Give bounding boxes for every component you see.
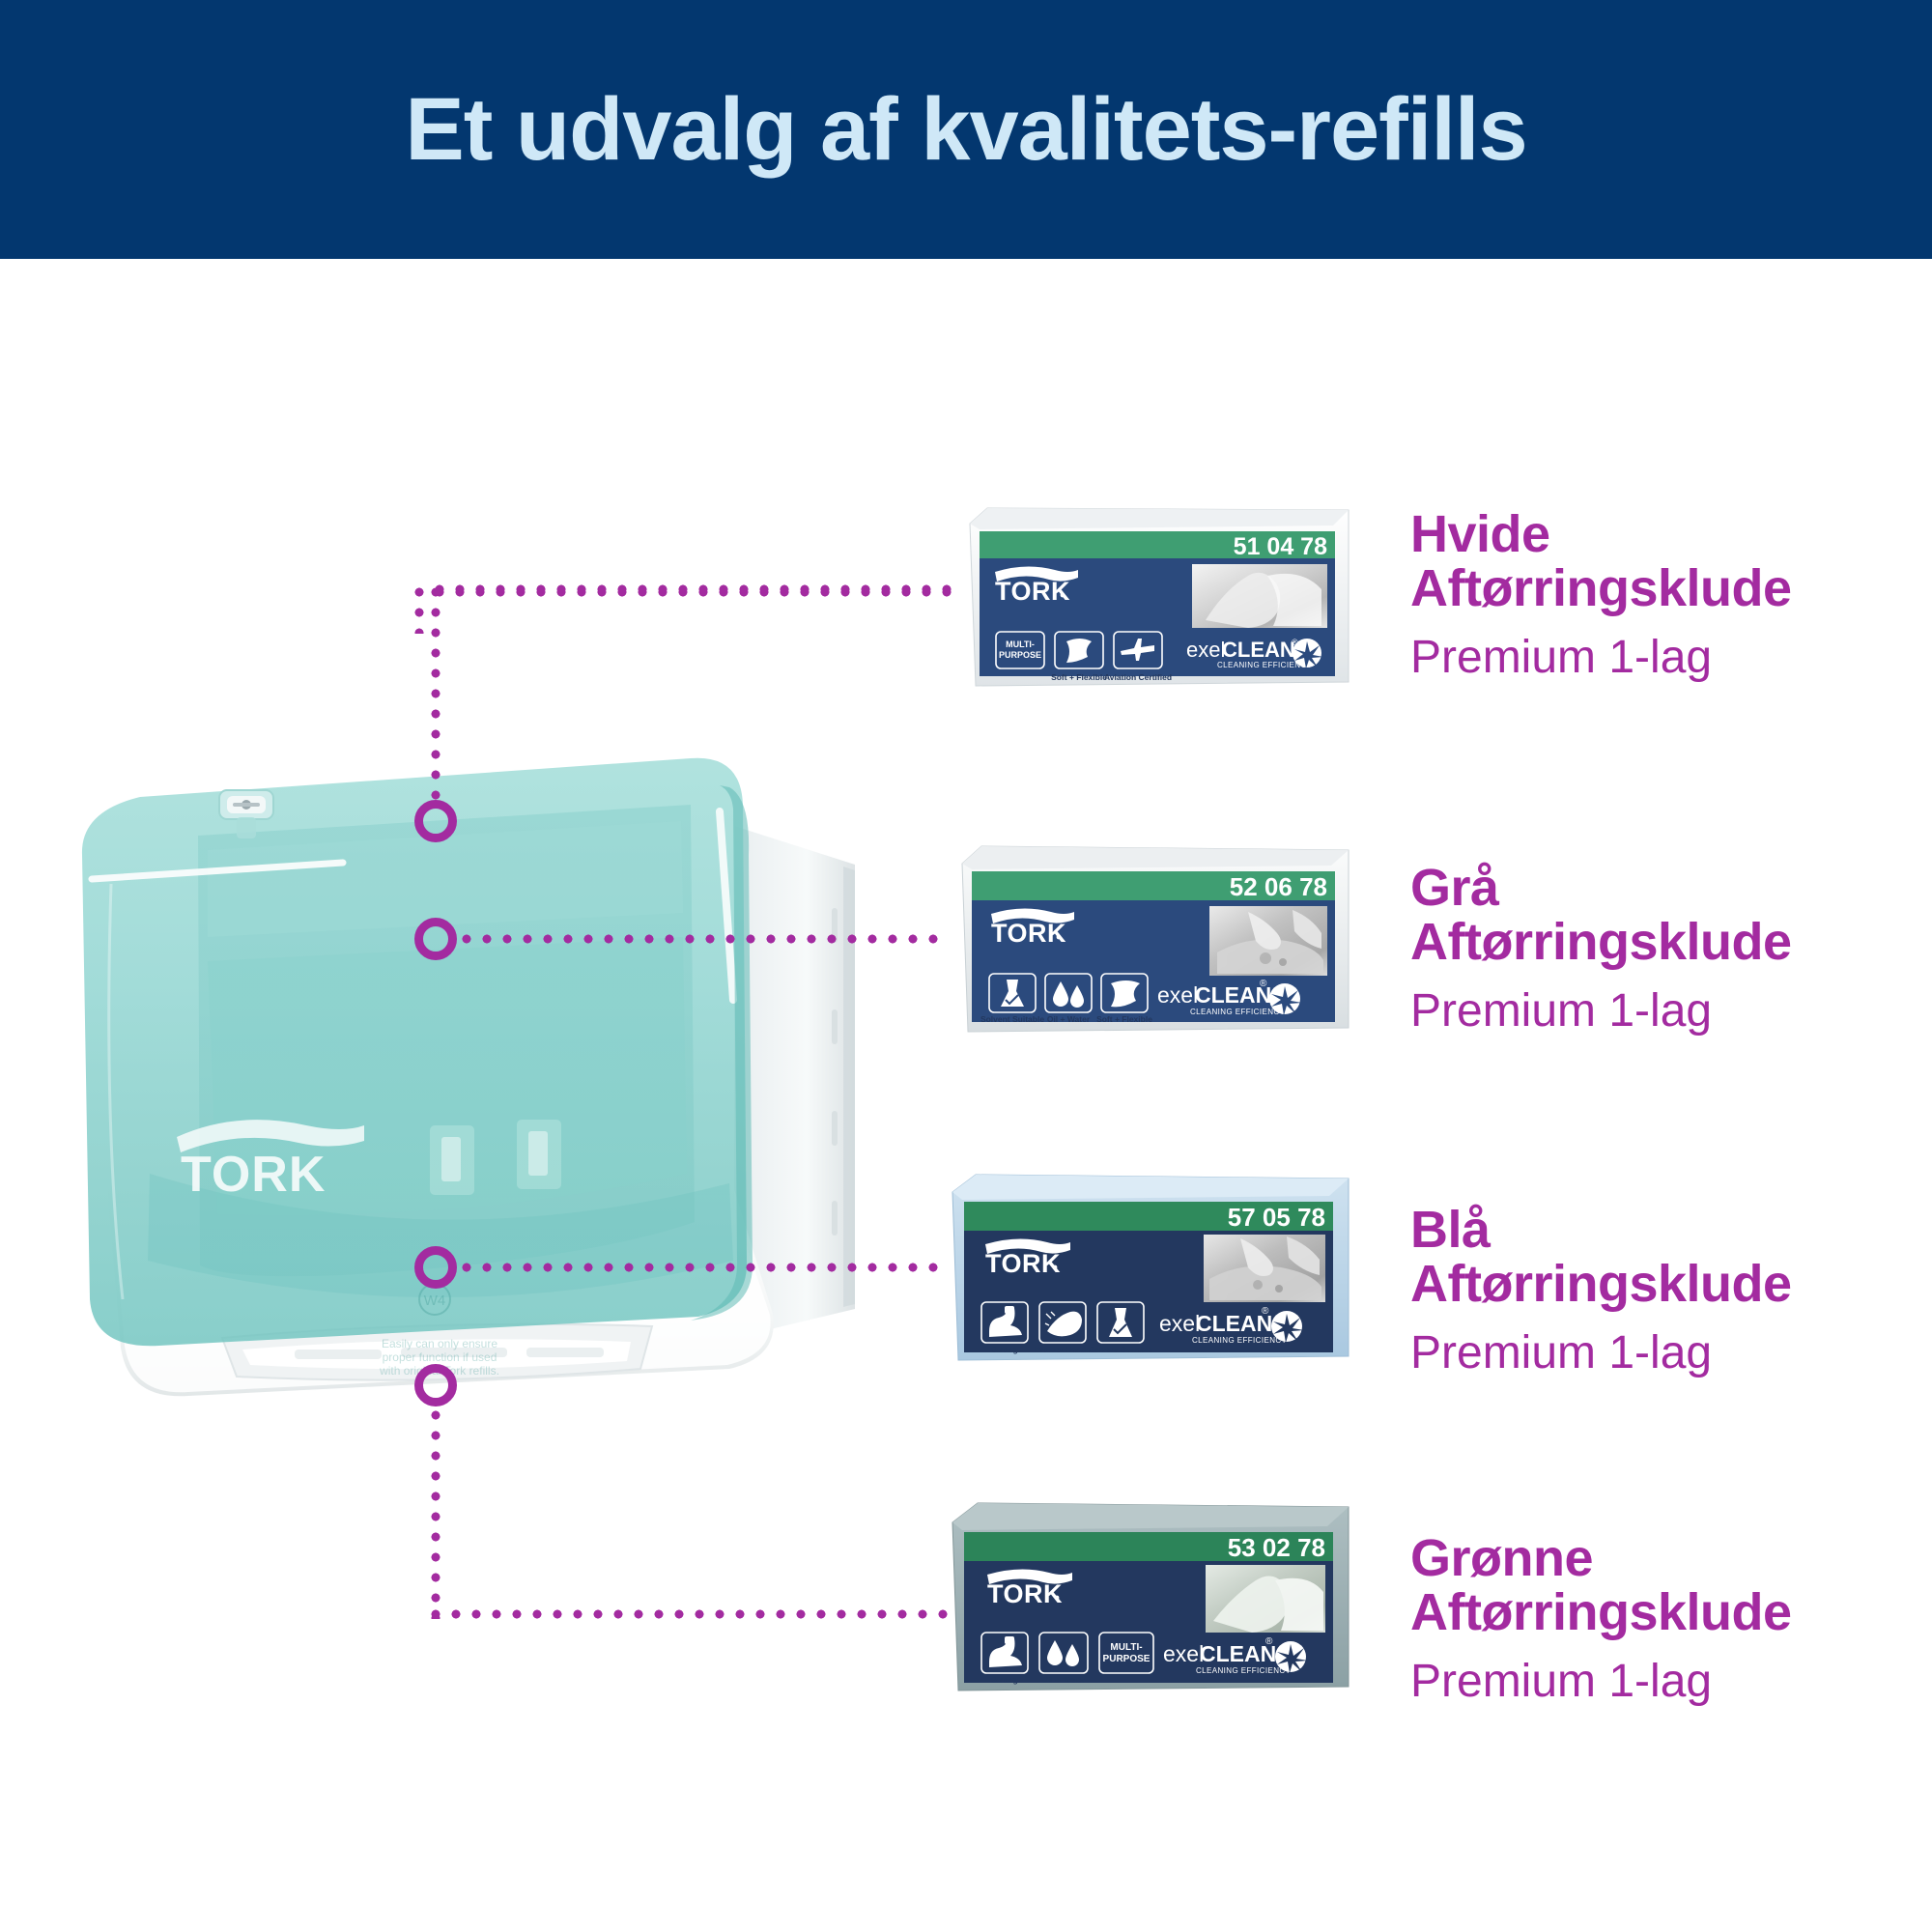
connector-line-4-vertical — [431, 1410, 440, 1619]
svg-text:Oil + Water: Oil + Water — [1047, 1014, 1091, 1024]
dispenser-illustration: TORK W4 Easily can only ensure proper fu… — [53, 720, 923, 1435]
product-subtitle: Premium 1-lag — [1410, 1328, 1792, 1379]
svg-text:exel: exel — [1186, 638, 1225, 662]
svg-text:Soft + Flexible: Soft + Flexible — [1051, 672, 1107, 682]
tork-logo: TORK — [991, 908, 1074, 948]
dispenser-image: TORK W4 Easily can only ensure proper fu… — [53, 720, 923, 1435]
tork-logo: TORK — [985, 1238, 1070, 1278]
product-title: Hvide Aftørringsklude — [1410, 508, 1792, 615]
header-banner: Et udvalg af kvalitets-refills — [0, 0, 1932, 259]
product-label-blaa: Blå Aftørringsklude Premium 1-lag — [1410, 1204, 1792, 1379]
product-subtitle: Premium 1-lag — [1410, 633, 1792, 684]
svg-text:exel: exel — [1157, 982, 1198, 1008]
svg-text:MULTI-: MULTI- — [1110, 1642, 1142, 1653]
svg-text:PURPOSE: PURPOSE — [999, 650, 1041, 660]
product-package-blaa[interactable]: 57 05 78 TORK Strong — [947, 1167, 1352, 1370]
svg-text:Strong: Strong — [991, 1675, 1017, 1685]
svg-text:TORK: TORK — [995, 577, 1070, 606]
connector-line-1-horizontal-main — [435, 584, 956, 594]
product-title: Grønne Aftørringsklude — [1410, 1532, 1792, 1639]
svg-text:CLEAN: CLEAN — [1222, 638, 1295, 662]
svg-text:CLEANING EFFICIENCY: CLEANING EFFICIENCY — [1192, 1336, 1288, 1345]
svg-text:CLEANING EFFICIENCY: CLEANING EFFICIENCY — [1190, 1008, 1286, 1016]
marker-ring-2 — [414, 918, 457, 960]
svg-text:TORK: TORK — [987, 1579, 1063, 1608]
svg-text:®: ® — [1265, 1636, 1273, 1647]
poster-canvas: Et udvalg af kvalitets-refills — [0, 0, 1932, 1932]
product-title: Blå Aftørringsklude — [1410, 1204, 1792, 1311]
connector-line-3-horizontal — [462, 1263, 943, 1272]
svg-text:CLEANING EFFICIENCY: CLEANING EFFICIENCY — [1196, 1666, 1292, 1675]
svg-text:®: ® — [1260, 979, 1267, 989]
marker-ring-3 — [414, 1246, 457, 1289]
svg-text:TORK: TORK — [991, 919, 1066, 948]
product-package-hvide[interactable]: 51 04 78 TORK MULTI- PURPOSE Soft + Flex… — [966, 500, 1352, 694]
svg-text:TORK: TORK — [985, 1249, 1061, 1278]
svg-text:Protect Hands: Protect Hands — [1035, 1345, 1091, 1354]
article-number: 52 06 78 — [1230, 872, 1327, 901]
tork-logo: TORK — [995, 566, 1078, 606]
product-subtitle: Premium 1-lag — [1410, 1657, 1792, 1708]
product-label-hvide: Hvide Aftørringsklude Premium 1-lag — [1410, 508, 1792, 684]
tork-logo: TORK — [987, 1569, 1072, 1608]
connector-line-1-vertical-lower — [431, 587, 440, 808]
svg-text:Easily can only ensure: Easily can only ensure — [382, 1337, 497, 1350]
connector-line-1-vertical — [414, 587, 424, 634]
svg-text:exel: exel — [1159, 1311, 1200, 1336]
svg-text:W4: W4 — [424, 1293, 446, 1309]
product-subtitle: Premium 1-lag — [1410, 986, 1792, 1037]
svg-text:exel: exel — [1163, 1641, 1204, 1666]
svg-text:Aviation Certified: Aviation Certified — [1104, 672, 1172, 682]
svg-text:Solvent Suitable: Solvent Suitable — [980, 1014, 1044, 1024]
product-package-gronne[interactable]: 53 02 78 TORK Strong Oil + Water — [947, 1495, 1352, 1698]
product-label-gronne: Grønne Aftørringsklude Premium 1-lag — [1410, 1532, 1792, 1708]
svg-text:proper function if used: proper function if used — [383, 1350, 497, 1364]
svg-text:TORK: TORK — [181, 1147, 326, 1203]
connector-line-4-horizontal — [431, 1609, 952, 1619]
article-number: 51 04 78 — [1234, 533, 1327, 560]
product-title: Grå Aftørringsklude — [1410, 862, 1792, 969]
svg-text:Strong: Strong — [991, 1345, 1017, 1354]
page-title: Et udvalg af kvalitets-refills — [405, 85, 1526, 174]
marker-ring-4 — [414, 1364, 457, 1406]
svg-text:Oil + Water: Oil + Water — [1042, 1675, 1086, 1685]
connector-line-2-horizontal — [462, 934, 945, 944]
svg-text:®: ® — [1262, 1306, 1269, 1317]
svg-text:Soft + Flexible: Soft + Flexible — [1096, 1014, 1152, 1024]
article-number: 57 05 78 — [1228, 1203, 1325, 1232]
product-package-graa[interactable]: 52 06 78 TORK Solvent Suitable — [958, 838, 1352, 1041]
svg-text:MULTI-: MULTI- — [1006, 639, 1035, 649]
product-label-graa: Grå Aftørringsklude Premium 1-lag — [1410, 862, 1792, 1037]
article-number: 53 02 78 — [1228, 1533, 1325, 1562]
svg-text:Solvent Suitable: Solvent Suitable — [1089, 1345, 1152, 1354]
svg-text:PURPOSE: PURPOSE — [1103, 1654, 1151, 1664]
